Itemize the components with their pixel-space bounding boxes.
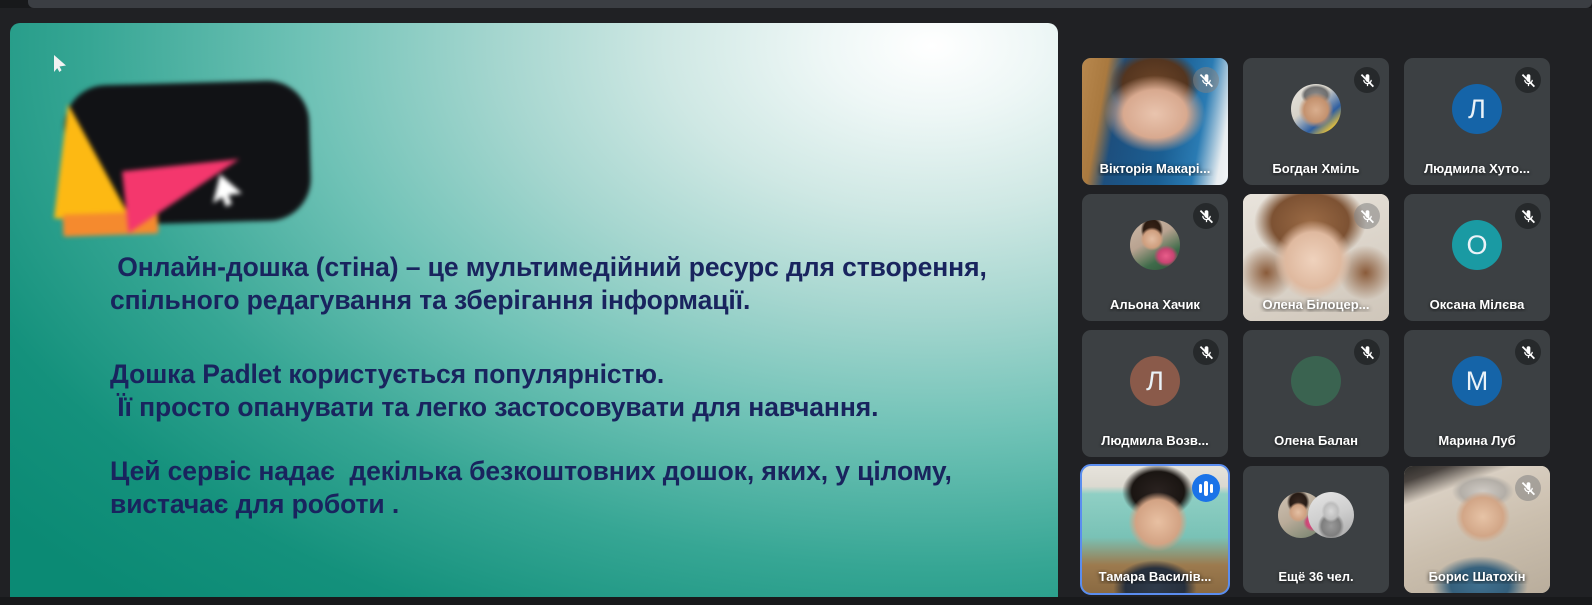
participant-name: Олена Балан <box>1243 433 1389 448</box>
mic-muted-icon[interactable] <box>1515 203 1541 229</box>
mic-muted-icon[interactable] <box>1515 339 1541 365</box>
participant-tile[interactable]: Л Людмила Хуто... <box>1404 58 1550 185</box>
mic-muted-icon[interactable] <box>1354 67 1380 93</box>
avatar <box>1291 84 1341 134</box>
slide-paragraph-1: Онлайн-дошка (стіна) – це мультимедійний… <box>110 251 1020 317</box>
overflow-avatar-stack <box>1278 492 1354 538</box>
participant-tile[interactable]: Богдан Хміль <box>1243 58 1389 185</box>
participant-name: Олена Білоцер... <box>1243 297 1389 312</box>
participant-tile[interactable]: О Оксана Мілєва <box>1404 194 1550 321</box>
participant-name: Марина Луб <box>1404 433 1550 448</box>
avatar <box>1308 492 1354 538</box>
mouse-pointer-icon <box>54 55 66 72</box>
mic-muted-icon[interactable] <box>1193 203 1219 229</box>
mic-muted-icon[interactable] <box>1193 67 1219 93</box>
participant-tile[interactable]: Олена Балан <box>1243 330 1389 457</box>
mic-muted-icon[interactable] <box>1515 67 1541 93</box>
participant-tile[interactable]: Вікторія Макарі... <box>1082 58 1228 185</box>
slide-text-body: Онлайн-дошка (стіна) – це мультимедійний… <box>110 251 1020 521</box>
shared-screen-slide[interactable]: Онлайн-дошка (стіна) – це мультимедійний… <box>10 23 1058 597</box>
participant-tile-overflow[interactable]: Ещё 36 чел. <box>1243 466 1389 593</box>
participant-name: Тамара Василів... <box>1082 569 1228 584</box>
slide-paragraph-3: Цей сервіс надає декілька безкоштовних д… <box>110 455 1020 521</box>
avatar-initial: Л <box>1452 84 1502 134</box>
audio-bar <box>1199 484 1203 493</box>
participant-name: Людмила Возв... <box>1082 433 1228 448</box>
avatar-initial: М <box>1452 356 1502 406</box>
avatar-initial: Л <box>1130 356 1180 406</box>
mic-muted-icon[interactable] <box>1515 475 1541 501</box>
avatar <box>1130 220 1180 270</box>
participant-name: Борис Шатохін <box>1404 569 1550 584</box>
participant-name: Людмила Хуто... <box>1404 161 1550 176</box>
padlet-logo-icon <box>53 73 318 233</box>
participant-tile-active-speaker[interactable]: Тамара Василів... <box>1082 466 1228 593</box>
participant-name: Альона Хачик <box>1082 297 1228 312</box>
participant-name: Вікторія Макарі... <box>1082 161 1228 176</box>
participant-name: Богдан Хміль <box>1243 161 1389 176</box>
audio-bar <box>1210 484 1214 493</box>
mic-muted-icon[interactable] <box>1354 339 1380 365</box>
avatar-initial: О <box>1452 220 1502 270</box>
participant-tile[interactable]: М Марина Луб <box>1404 330 1550 457</box>
participant-tile[interactable]: Олена Білоцер... <box>1243 194 1389 321</box>
slide-paragraph-2: Дошка Padlet користується популярністю. … <box>110 358 1020 424</box>
overflow-count-label: Ещё 36 чел. <box>1243 569 1389 584</box>
participant-tile[interactable]: Борис Шатохін <box>1404 466 1550 593</box>
audio-level-icon <box>1192 474 1220 502</box>
mic-muted-icon[interactable] <box>1193 339 1219 365</box>
window-topbar <box>0 0 1592 8</box>
conference-stage: Онлайн-дошка (стіна) – це мультимедійний… <box>0 8 1592 597</box>
participant-tile[interactable]: Л Людмила Возв... <box>1082 330 1228 457</box>
participants-grid: Вікторія Макарі... Богдан Хміль Л Людмил… <box>1082 58 1592 605</box>
avatar <box>1291 356 1341 406</box>
mic-muted-icon[interactable] <box>1354 203 1380 229</box>
participant-tile[interactable]: Альона Хачик <box>1082 194 1228 321</box>
participant-name: Оксана Мілєва <box>1404 297 1550 312</box>
window-topbar-tab-strip <box>28 0 1592 8</box>
audio-bar <box>1204 481 1208 496</box>
